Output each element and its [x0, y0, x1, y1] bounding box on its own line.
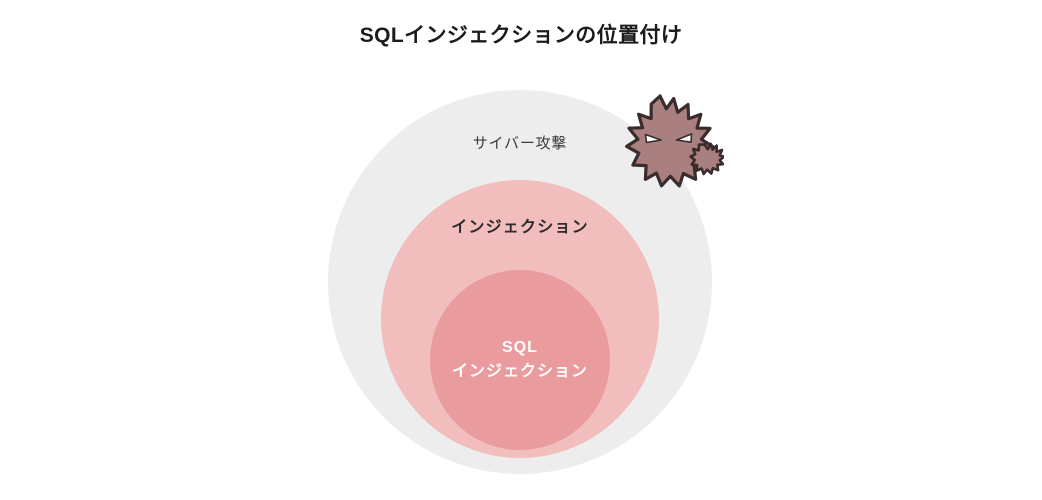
circle-label-sql-injection-line1: SQL	[320, 336, 720, 360]
virus-icon	[616, 92, 724, 188]
circle-label-sql-injection-line2: インジェクション	[320, 360, 720, 384]
virus-body	[627, 96, 713, 186]
virus-small-icon	[691, 144, 724, 174]
circle-label-sql-injection: SQL インジェクション	[320, 336, 720, 384]
diagram-canvas: SQLインジェクションの位置付け サイバー攻撃 インジェクション SQL インジ…	[0, 0, 1042, 500]
circle-label-injection: インジェクション	[320, 213, 720, 237]
venn-diagram: サイバー攻撃 インジェクション SQL インジェクション	[0, 0, 1042, 500]
